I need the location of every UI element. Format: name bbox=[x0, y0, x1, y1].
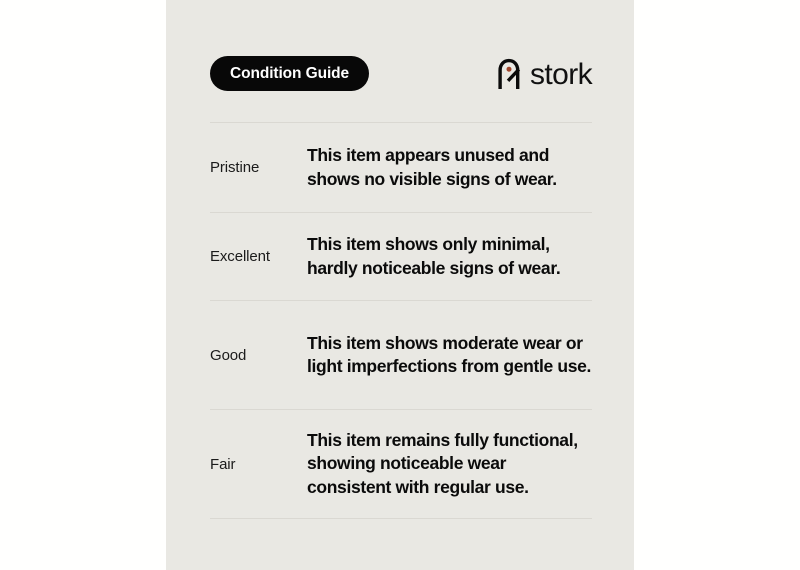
row-divider bbox=[210, 518, 592, 519]
condition-guide-table: Pristine This item appears unused and sh… bbox=[210, 122, 592, 519]
condition-guide-pill-button[interactable]: Condition Guide bbox=[210, 56, 369, 91]
condition-description: This item shows moderate wear or light i… bbox=[307, 332, 592, 379]
condition-label: Excellent bbox=[210, 248, 307, 265]
table-row: Excellent This item shows only minimal, … bbox=[210, 213, 592, 300]
condition-label: Pristine bbox=[210, 159, 307, 176]
table-row: Fair This item remains fully functional,… bbox=[210, 410, 592, 518]
card-header: Condition Guide stork bbox=[210, 56, 592, 92]
page-root: Condition Guide stork Pristine This item… bbox=[0, 0, 800, 570]
brand-wordmark: stork bbox=[530, 60, 592, 90]
table-row: Pristine This item appears unused and sh… bbox=[210, 123, 592, 212]
table-row: Good This item shows moderate wear or li… bbox=[210, 301, 592, 409]
stork-arch-logo-icon bbox=[497, 58, 521, 89]
condition-description: This item remains fully functional, show… bbox=[307, 429, 592, 499]
brand-lockup: stork bbox=[497, 56, 592, 91]
condition-label: Fair bbox=[210, 456, 307, 473]
condition-description: This item shows only minimal, hardly not… bbox=[307, 233, 592, 280]
condition-label: Good bbox=[210, 347, 307, 364]
condition-description: This item appears unused and shows no vi… bbox=[307, 144, 592, 191]
condition-guide-card: Condition Guide stork Pristine This item… bbox=[166, 0, 634, 570]
